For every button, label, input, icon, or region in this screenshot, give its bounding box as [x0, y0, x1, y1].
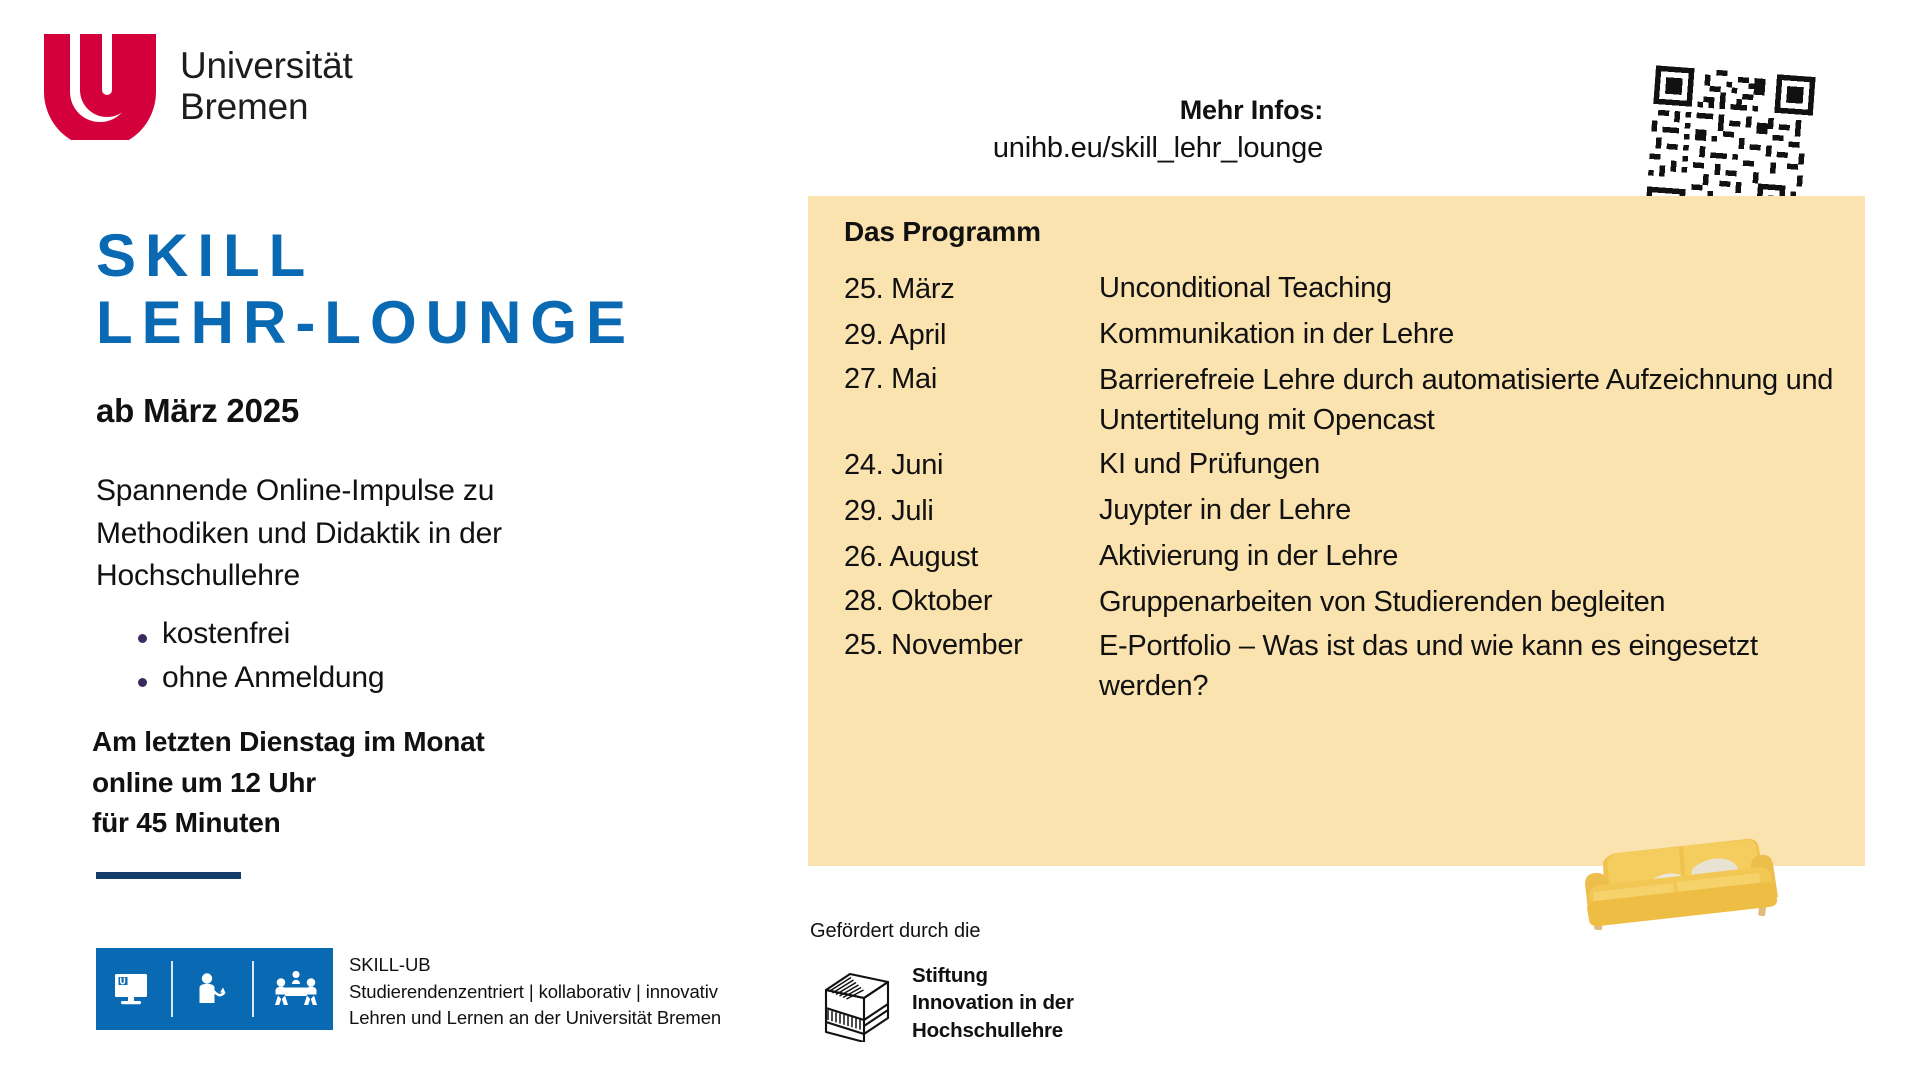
programme-row: 29. Juli Juypter in der Lehre: [844, 490, 1847, 532]
skill-ub-subline: Lehren und Lernen an der Universität Bre…: [349, 1005, 721, 1032]
skill-ub-logo-block: SKILL-UB Studierendenzentriert | kollabo…: [96, 948, 721, 1032]
programme-session-title: Juypter in der Lehre: [1099, 490, 1847, 530]
skill-ub-tagline: Studierendenzentriert | kollaborativ | i…: [349, 979, 721, 1006]
programme-session-title: Unconditional Teaching: [1099, 268, 1847, 308]
programme-date: 26. August: [844, 536, 1099, 578]
programme-row: 27. Mai Barrierefreie Lehre durch automa…: [844, 360, 1847, 440]
programme-date: 29. Juli: [844, 490, 1099, 532]
more-info-title: Mehr Infos:: [993, 95, 1323, 126]
badge-divider-1: [171, 961, 173, 1017]
schedule-line3: für 45 Minuten: [92, 803, 485, 844]
programme-row: 24. Juni KI und Prüfungen: [844, 444, 1847, 486]
funder-label: Gefördert durch die: [810, 920, 980, 943]
lead-paragraph: Spannende Online-Impulse zu Methodiken u…: [96, 470, 616, 598]
university-name-line1: Universität: [180, 45, 353, 86]
university-wordmark: Universität Bremen: [180, 45, 353, 128]
group-work-icon: [271, 966, 321, 1012]
teacher-icon: [190, 966, 236, 1012]
funder-name-line2: Innovation in der: [912, 989, 1074, 1016]
programme-title: Das Programm: [844, 216, 1041, 248]
programme-list: 25. März Unconditional Teaching 29. Apri…: [844, 268, 1847, 710]
programme-date: 24. Juni: [844, 444, 1099, 486]
programme-panel: Das Programm 25. März Unconditional Teac…: [808, 196, 1865, 866]
funder-logo-block: Stiftung Innovation in der Hochschullehr…: [820, 962, 1074, 1044]
list-item: ohne Anmeldung: [128, 656, 384, 700]
programme-row: 28. Oktober Gruppenarbeiten von Studiere…: [844, 582, 1847, 622]
programme-date: 25. März: [844, 268, 1099, 310]
page-title: SKILL LEHR-LOUNGE: [96, 222, 635, 356]
programme-date: 25. November: [844, 626, 1099, 665]
headline-line1: SKILL: [96, 222, 635, 289]
funder-name-line3: Hochschullehre: [912, 1017, 1074, 1044]
skill-ub-name: SKILL-UB: [349, 952, 721, 979]
more-info-url[interactable]: unihb.eu/skill_lehr_lounge: [993, 132, 1323, 165]
programme-row: 25. November E-Portfolio – Was ist das u…: [844, 626, 1847, 706]
poster-canvas: Universität Bremen Mehr Infos: unihb.eu/…: [0, 0, 1920, 1080]
badge-divider-2: [252, 961, 254, 1017]
programme-session-title: Gruppenarbeiten von Studierenden begleit…: [1099, 582, 1847, 622]
programme-row: 29. April Kommunikation in der Lehre: [844, 314, 1847, 356]
university-name-line2: Bremen: [180, 86, 353, 127]
programme-date: 29. April: [844, 314, 1099, 356]
skill-ub-icon-badge: [96, 948, 333, 1030]
university-logo: Universität Bremen: [40, 32, 353, 140]
programme-session-title: Aktivierung in der Lehre: [1099, 536, 1847, 576]
accent-rule: [96, 872, 241, 879]
more-info-block: Mehr Infos: unihb.eu/skill_lehr_lounge: [993, 95, 1323, 165]
monitor-icon: [108, 966, 154, 1012]
stiftung-armchair-icon: [820, 964, 894, 1042]
programme-row: 26. August Aktivierung in der Lehre: [844, 536, 1847, 578]
feature-bullet-list: kostenfrei ohne Anmeldung: [128, 612, 384, 701]
skill-ub-text: SKILL-UB Studierendenzentriert | kollabo…: [349, 948, 721, 1032]
funder-name-line1: Stiftung: [912, 962, 1074, 989]
yellow-sofa-illustration: [1573, 822, 1798, 942]
programme-session-title: KI und Prüfungen: [1099, 444, 1847, 484]
schedule-info: Am letzten Dienstag im Monat online um 1…: [92, 722, 485, 844]
subheadline: ab März 2025: [96, 392, 299, 430]
programme-session-title: Kommunikation in der Lehre: [1099, 314, 1847, 354]
funder-name: Stiftung Innovation in der Hochschullehr…: [912, 962, 1074, 1044]
programme-session-title: E-Portfolio – Was ist das und wie kann e…: [1099, 626, 1847, 706]
schedule-line2: online um 12 Uhr: [92, 763, 485, 804]
schedule-line1: Am letzten Dienstag im Monat: [92, 722, 485, 763]
university-bremen-u-logo-icon: [40, 32, 162, 140]
list-item: kostenfrei: [128, 612, 384, 656]
programme-session-title: Barrierefreie Lehre durch automatisierte…: [1099, 360, 1847, 440]
programme-row: 25. März Unconditional Teaching: [844, 268, 1847, 310]
headline-line2: LEHR-LOUNGE: [96, 289, 635, 356]
programme-date: 27. Mai: [844, 360, 1099, 399]
programme-date: 28. Oktober: [844, 582, 1099, 621]
